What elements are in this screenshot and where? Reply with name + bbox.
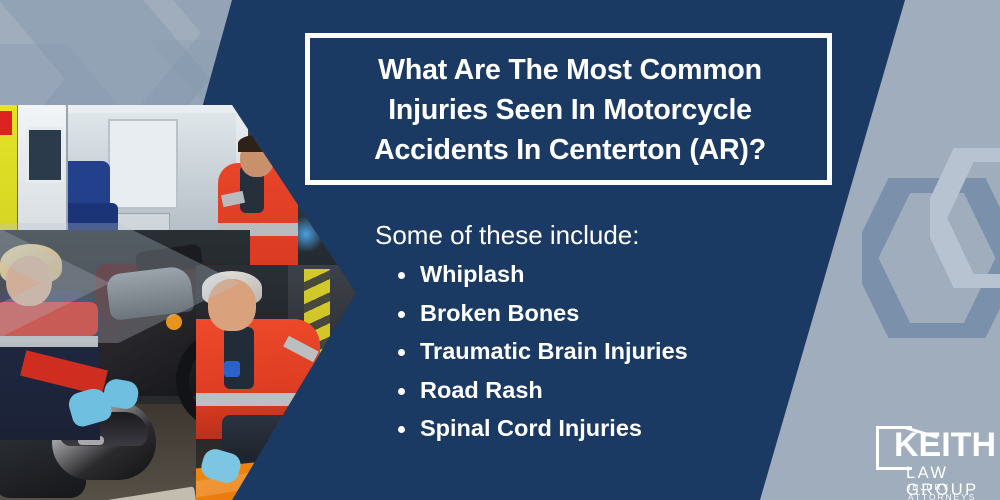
list-item: Traumatic Brain Injuries [420, 332, 688, 371]
keith-law-group-logo: KEITH LAW GROUP INJURY ATTORNEYS [872, 424, 1000, 490]
lead-text: Some of these include: [375, 219, 640, 251]
title-line-3: Accidents In Centerton (AR)? [320, 130, 820, 170]
page-title: What Are The Most Common Injuries Seen I… [320, 50, 820, 170]
infographic-banner: What Are The Most Common Injuries Seen I… [0, 0, 1000, 500]
list-item: Spinal Cord Injuries [420, 409, 688, 448]
title-line-2: Injuries Seen In Motorcycle [320, 90, 820, 130]
title-line-1: What Are The Most Common [320, 50, 820, 90]
logo-subtagline: INJURY ATTORNEYS [908, 482, 1000, 500]
hexagon-outline-light-icon [930, 148, 1000, 288]
list-item: Road Rash [420, 371, 688, 410]
logo-name: KEITH [894, 428, 996, 462]
injury-list: Whiplash Broken Bones Traumatic Brain In… [378, 255, 688, 448]
list-item: Whiplash [420, 255, 688, 294]
list-item: Broken Bones [420, 294, 688, 333]
